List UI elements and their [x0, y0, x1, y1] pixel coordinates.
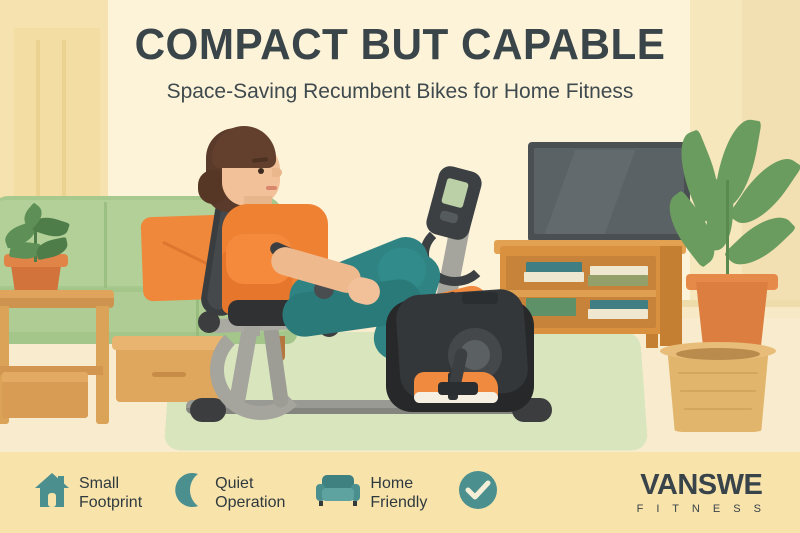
feature-bar: Small Footprint Quiet Operation [0, 452, 800, 533]
brand-name: VANSWE [637, 471, 766, 500]
plant-stem [726, 180, 729, 282]
page-title: COMPACT BUT CAPABLE [16, 20, 784, 70]
book [588, 275, 648, 286]
sofa-back-seam [104, 202, 107, 290]
page-subtitle: Space-Saving Recumbent Bikes for Home Fi… [0, 80, 800, 104]
poster: COMPACT BUT CAPABLE Space-Saving Recumbe… [0, 0, 800, 533]
side-table-leg [96, 306, 109, 424]
basket-weave [680, 390, 756, 392]
basket-weave [684, 408, 752, 410]
feature-small-footprint[interactable]: Small Footprint [34, 471, 142, 514]
feature-label: Quiet Operation [215, 474, 285, 512]
book [524, 272, 584, 282]
plant-pot [692, 282, 772, 348]
mouth [266, 186, 277, 190]
woven-basket-opening [676, 348, 760, 360]
bike-pedal-lower [438, 382, 478, 395]
brand-tagline: F I T N E S S [637, 504, 766, 515]
house-icon [34, 471, 70, 514]
storage-basket-lid [2, 372, 88, 382]
book [526, 298, 576, 316]
feature-verified[interactable] [457, 469, 508, 516]
brand-logo[interactable]: VANSWE F I T N E S S [637, 471, 766, 515]
feature-home-friendly[interactable]: Home Friendly [315, 472, 427, 513]
feature-quiet-operation[interactable]: Quiet Operation [172, 471, 285, 514]
book [588, 309, 648, 319]
moon-icon [172, 471, 206, 514]
nose [272, 168, 282, 177]
bike-pedal-upper [462, 292, 498, 304]
tv-console-side [660, 246, 682, 346]
sofa-icon [315, 472, 361, 513]
tv-console-shelf [506, 290, 656, 297]
storage-box-lid [112, 336, 226, 350]
check-circle-icon [457, 469, 499, 516]
feature-label: Home Friendly [370, 474, 427, 512]
feature-label: Small Footprint [79, 474, 142, 512]
tv-console-leg [646, 334, 658, 348]
eye [258, 168, 264, 174]
basket-weave [678, 372, 758, 374]
storage-box-handle [152, 372, 186, 377]
